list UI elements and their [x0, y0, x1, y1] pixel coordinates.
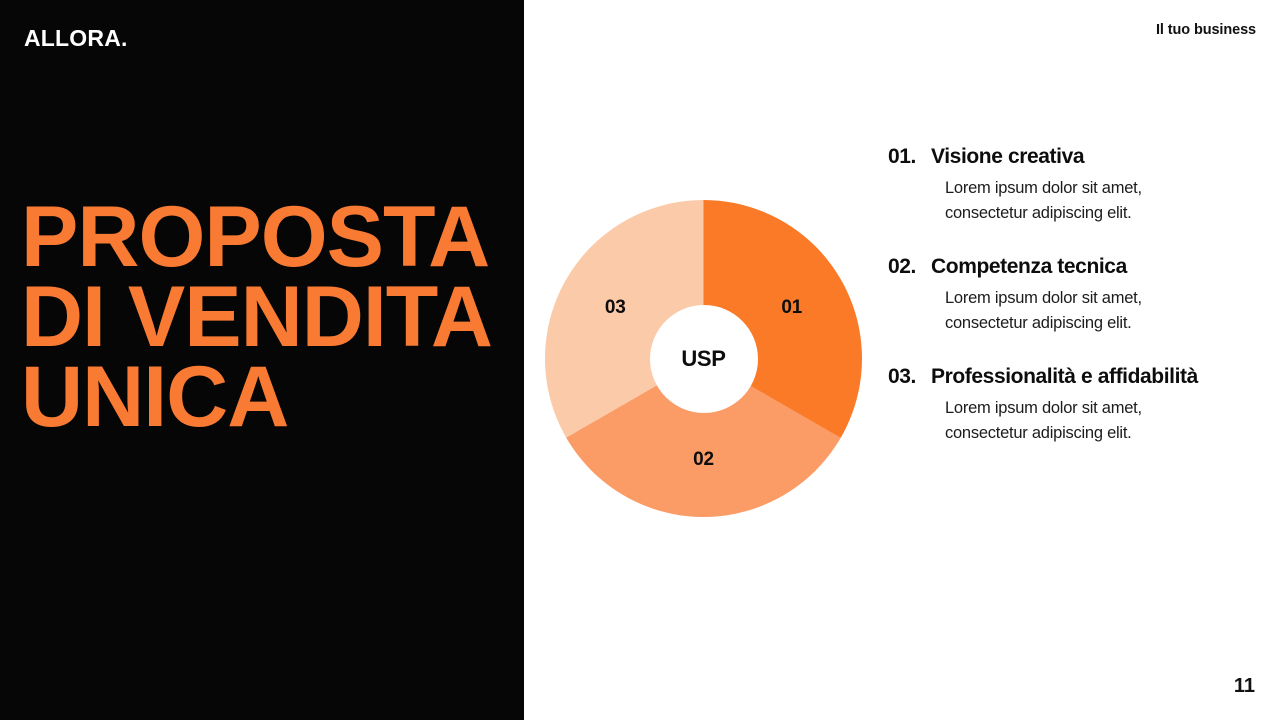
slide-root: ALLORA. PROPOSTA DI VENDITA UNICA Il tuo… [0, 0, 1280, 720]
usp-donut-chart: USP 01 02 03 [545, 200, 862, 517]
brand-logo: ALLORA. [24, 25, 128, 52]
usp-list: 01. Visione creativa Lorem ipsum dolor s… [888, 142, 1224, 446]
list-item-title: Visione creativa [931, 142, 1084, 172]
list-item-number: 03. [888, 362, 916, 392]
left-panel: ALLORA. PROPOSTA DI VENDITA UNICA [0, 0, 524, 720]
page-number: 11 [1234, 675, 1255, 698]
list-item: 01. Visione creativa Lorem ipsum dolor s… [888, 142, 1224, 226]
donut-center-label: USP [681, 346, 725, 372]
list-item-description: Lorem ipsum dolor sit amet, consectetur … [945, 176, 1224, 226]
donut-segment-label-01: 01 [781, 297, 802, 319]
list-item-title: Professionalità e affidabilità [931, 362, 1198, 392]
list-item: 03. Professionalità e affidabilità Lorem… [888, 362, 1224, 446]
list-item-heading: 03. Professionalità e affidabilità [888, 362, 1224, 392]
list-item-description: Lorem ipsum dolor sit amet, consectetur … [945, 286, 1224, 336]
list-item-number: 01. [888, 142, 916, 172]
donut-segment-label-03: 03 [605, 297, 626, 319]
donut-center: USP [650, 305, 758, 413]
page-title: PROPOSTA DI VENDITA UNICA [21, 198, 491, 438]
list-item-heading: 02. Competenza tecnica [888, 252, 1224, 282]
list-item-heading: 01. Visione creativa [888, 142, 1224, 172]
list-item: 02. Competenza tecnica Lorem ipsum dolor… [888, 252, 1224, 336]
donut-segment-label-02: 02 [693, 449, 714, 471]
list-item-description: Lorem ipsum dolor sit amet, consectetur … [945, 396, 1224, 446]
header-right-label: Il tuo business [1156, 22, 1256, 38]
list-item-title: Competenza tecnica [931, 252, 1127, 282]
list-item-number: 02. [888, 252, 916, 282]
